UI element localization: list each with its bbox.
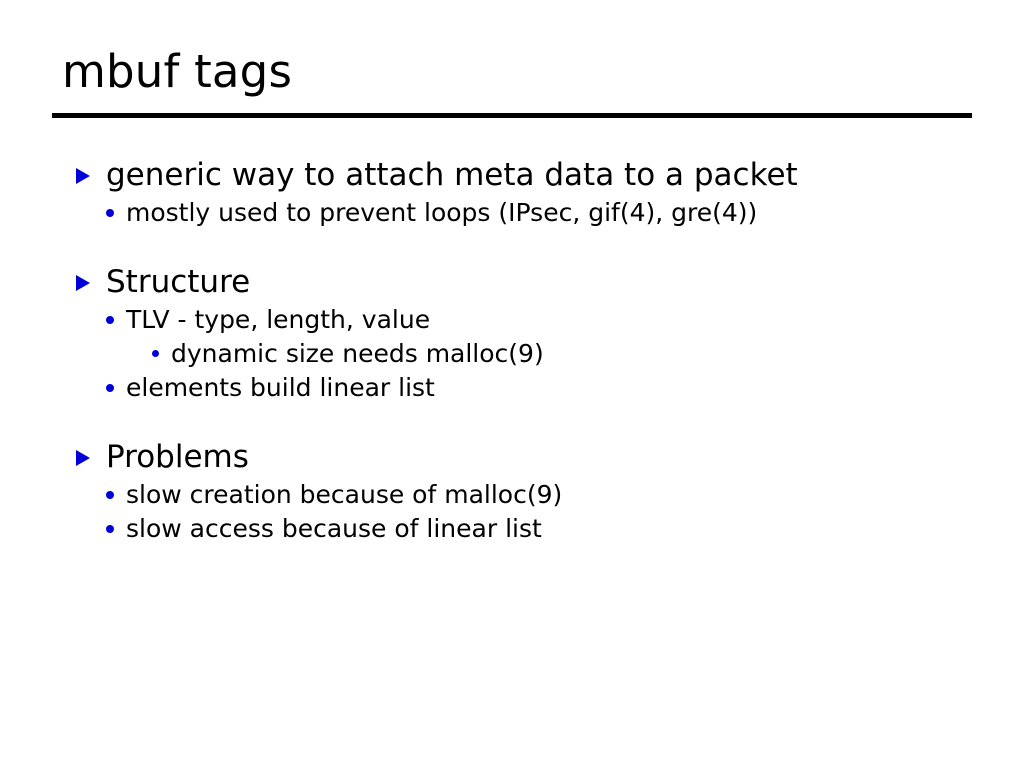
blue-dot-bullet-icon — [106, 384, 114, 392]
blue-dot-bullet-icon — [106, 525, 114, 533]
list-item-label: Structure — [106, 262, 1024, 303]
list-item-label: slow creation because of malloc(9) — [126, 478, 1024, 512]
list-item: elements build linear list — [0, 371, 1024, 405]
blue-triangle-bullet-icon — [76, 275, 90, 291]
blue-triangle-bullet-icon — [76, 168, 90, 184]
list-item-label: dynamic size needs malloc(9) — [171, 337, 1024, 371]
list-item-label: TLV - type, length, value — [126, 303, 1024, 337]
list-item: mostly used to prevent loops (IPsec, gif… — [0, 196, 1024, 230]
blue-dot-bullet-icon — [152, 350, 159, 357]
title-underline-rule — [52, 113, 972, 118]
blue-dot-bullet-icon — [106, 316, 114, 324]
page-title: mbuf tags — [62, 48, 292, 95]
list-item: slow access because of linear list — [0, 512, 1024, 546]
bullet-list: generic way to attach meta data to a pac… — [0, 155, 1024, 546]
list-item: generic way to attach meta data to a pac… — [0, 155, 1024, 196]
list-item: Problems — [0, 437, 1024, 478]
list-item: slow creation because of malloc(9) — [0, 478, 1024, 512]
slide: mbuf tags generic way to attach meta dat… — [0, 0, 1024, 768]
list-item-label: mostly used to prevent loops (IPsec, gif… — [126, 196, 1024, 230]
list-item: TLV - type, length, value — [0, 303, 1024, 337]
blue-triangle-bullet-icon — [76, 450, 90, 466]
list-item: Structure — [0, 262, 1024, 303]
list-item-label: slow access because of linear list — [126, 512, 1024, 546]
blue-dot-bullet-icon — [106, 209, 114, 217]
list-item-label: generic way to attach meta data to a pac… — [106, 155, 1024, 196]
list-item: dynamic size needs malloc(9) — [0, 337, 1024, 371]
blue-dot-bullet-icon — [106, 491, 114, 499]
group-spacer — [0, 230, 1024, 262]
list-item-label: Problems — [106, 437, 1024, 478]
list-item-label: elements build linear list — [126, 371, 1024, 405]
group-spacer — [0, 405, 1024, 437]
